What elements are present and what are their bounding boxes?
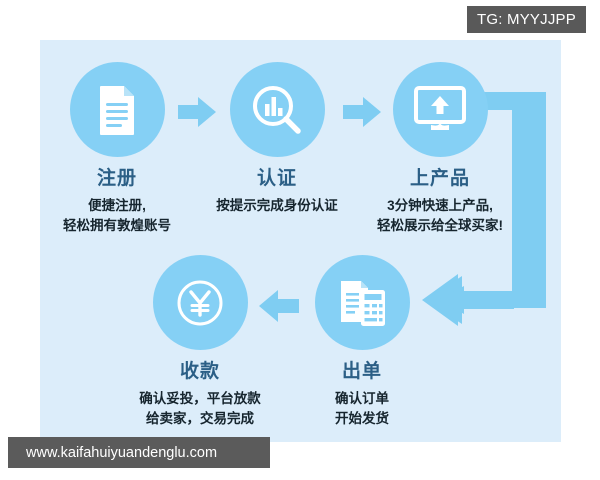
watermark-label: www.kaifahuiyuandenglu.com	[26, 445, 217, 461]
monitor-upload-icon	[413, 86, 467, 134]
flow-node-payment-desc: 确认妥投，平台放款 给卖家，交易完成	[100, 389, 300, 430]
document-icon	[94, 84, 140, 136]
yuan-coin-icon	[175, 278, 225, 328]
flow-diagram-panel: 注册 便捷注册, 轻松拥有敦煌账号 认证 按提示完成身份认证 上产品 3分钟快速	[40, 40, 561, 442]
flow-node-verify-circle	[230, 62, 325, 157]
flow-node-register-circle	[70, 62, 165, 157]
invoice-calculator-icon	[336, 278, 388, 328]
flow-node-payment-circle	[153, 255, 248, 350]
flow-node-payment[interactable]: 收款 确认妥投，平台放款 给卖家，交易完成	[100, 255, 300, 429]
tg-badge: TG: MYYJJPP	[467, 6, 586, 33]
flow-node-upload-title: 上产品	[340, 169, 540, 190]
flow-node-upload-circle	[393, 62, 488, 157]
magnifier-bar-chart-icon	[251, 84, 303, 136]
tg-badge-label: TG: MYYJJPP	[477, 11, 576, 28]
flow-node-upload[interactable]: 上产品 3分钟快速上产品, 轻松展示给全球买家!	[340, 62, 540, 236]
flow-node-upload-desc: 3分钟快速上产品, 轻松展示给全球买家!	[340, 196, 540, 237]
flow-node-payment-title: 收款	[100, 362, 300, 383]
flow-node-order-circle	[315, 255, 410, 350]
watermark-url: www.kaifahuiyuandenglu.com	[8, 437, 270, 468]
